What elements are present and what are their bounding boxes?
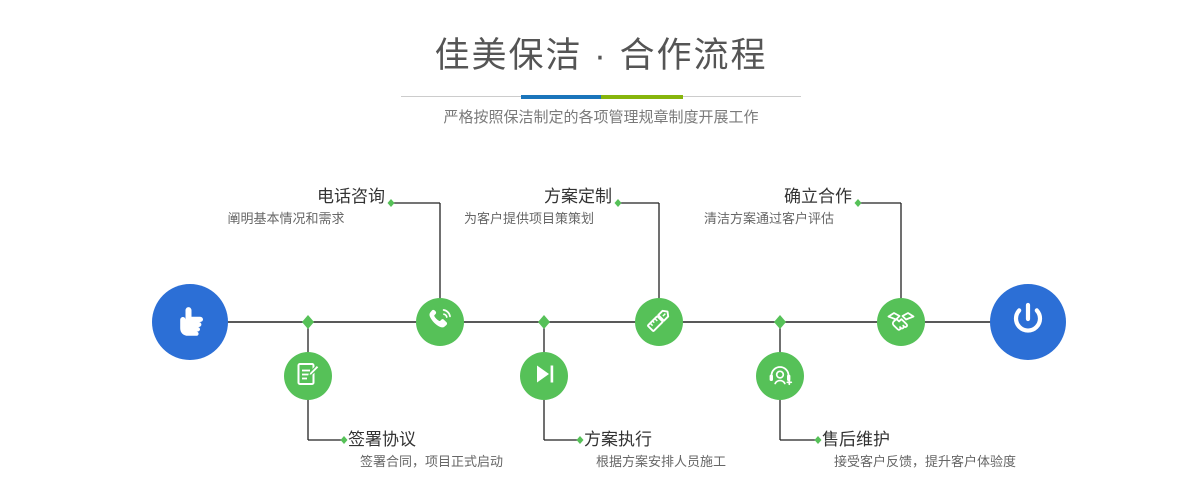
phone-call-icon	[425, 305, 455, 340]
step-desc: 签署合同，项目正式启动	[348, 452, 503, 472]
divider-segment-blue	[521, 95, 601, 99]
step-title: 电话咨询	[181, 185, 391, 209]
step-label-establish-cooperation: 确立合作 清洁方案通过客户评估	[680, 185, 858, 229]
power-button-icon	[1006, 298, 1050, 347]
page-subtitle: 严格按照保洁制定的各项管理规章制度开展工作	[0, 107, 1202, 129]
step-label-phone-consult: 电话咨询 阐明基本情况和需求	[181, 185, 391, 229]
step-icon-plan-customization[interactable]	[635, 298, 683, 346]
step-desc: 接受客户反馈，提升客户体验度	[822, 452, 1016, 472]
ruler-pencil-icon	[644, 305, 674, 340]
document-pen-icon	[294, 360, 322, 393]
step-desc: 清洁方案通过客户评估	[680, 209, 858, 229]
step-title: 签署协议	[348, 428, 503, 452]
step-desc: 根据方案安排人员施工	[584, 452, 726, 472]
step-label-plan-execution: 方案执行 根据方案安排人员施工	[584, 428, 726, 472]
step-label-sign-agreement: 签署协议 签署合同，项目正式启动	[348, 428, 503, 472]
step-icon-establish-cooperation[interactable]	[877, 298, 925, 346]
play-execute-icon	[530, 360, 558, 393]
step-desc: 为客户提供项目策策划	[440, 209, 618, 229]
step-icon-phone-consult[interactable]	[416, 298, 464, 346]
customer-service-add-icon	[766, 360, 794, 393]
pointing-hand-icon	[168, 298, 212, 347]
step-icon-after-sales[interactable]	[756, 352, 804, 400]
step-title: 确立合作	[680, 185, 858, 209]
step-title: 售后维护	[822, 428, 1016, 452]
step-label-plan-customization: 方案定制 为客户提供项目策策划	[440, 185, 618, 229]
step-desc: 阐明基本情况和需求	[181, 209, 391, 229]
step-title: 方案执行	[584, 428, 726, 452]
flow-end-badge[interactable]	[990, 284, 1066, 360]
flow-start-badge[interactable]	[152, 284, 228, 360]
title-divider	[401, 95, 801, 99]
page-title: 佳美保洁 · 合作流程	[0, 34, 1202, 78]
process-flow-diagram: 电话咨询 阐明基本情况和需求 签署协议 签署合同，项目正式启动	[0, 150, 1202, 502]
handshake-icon	[885, 304, 917, 341]
step-title: 方案定制	[440, 185, 618, 209]
step-icon-sign-agreement[interactable]	[284, 352, 332, 400]
divider-segment-green	[601, 95, 683, 99]
step-icon-plan-execution[interactable]	[520, 352, 568, 400]
step-label-after-sales: 售后维护 接受客户反馈，提升客户体验度	[822, 428, 1016, 472]
page-header: 佳美保洁 · 合作流程 严格按照保洁制定的各项管理规章制度开展工作	[0, 0, 1202, 150]
